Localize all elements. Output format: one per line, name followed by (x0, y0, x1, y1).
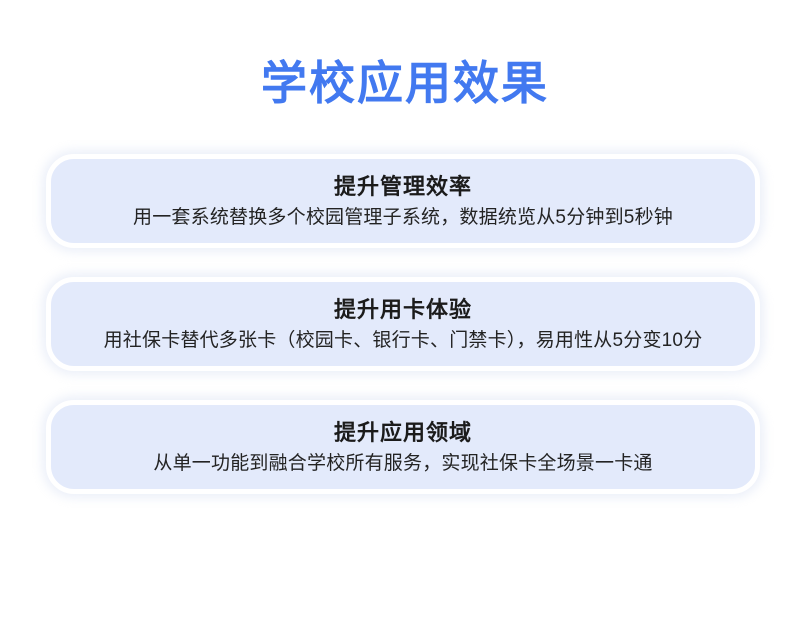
card-description: 从单一功能到融合学校所有服务，实现社保卡全场景一卡通 (153, 450, 652, 477)
effect-card-card-experience: 提升用卡体验 用社保卡替代多张卡（校园卡、银行卡、门禁卡），易用性从5分变10分 (46, 277, 760, 371)
effect-card-list: 提升管理效率 用一套系统替换多个校园管理子系统，数据统览从5分钟到5秒钟 提升用… (46, 154, 764, 494)
card-heading: 提升管理效率 (334, 172, 472, 202)
effect-card-management-efficiency: 提升管理效率 用一套系统替换多个校园管理子系统，数据统览从5分钟到5秒钟 (46, 154, 760, 248)
school-application-effect-page: 学校应用效果 提升管理效率 用一套系统替换多个校园管理子系统，数据统览从5分钟到… (0, 0, 810, 622)
card-description: 用社保卡替代多张卡（校园卡、银行卡、门禁卡），易用性从5分变10分 (104, 327, 703, 354)
card-heading: 提升用卡体验 (334, 295, 472, 325)
page-title: 学校应用效果 (0, 55, 810, 111)
effect-card-application-scope: 提升应用领域 从单一功能到融合学校所有服务，实现社保卡全场景一卡通 (46, 400, 760, 494)
card-heading: 提升应用领域 (334, 418, 472, 448)
card-description: 用一套系统替换多个校园管理子系统，数据统览从5分钟到5秒钟 (133, 204, 673, 231)
